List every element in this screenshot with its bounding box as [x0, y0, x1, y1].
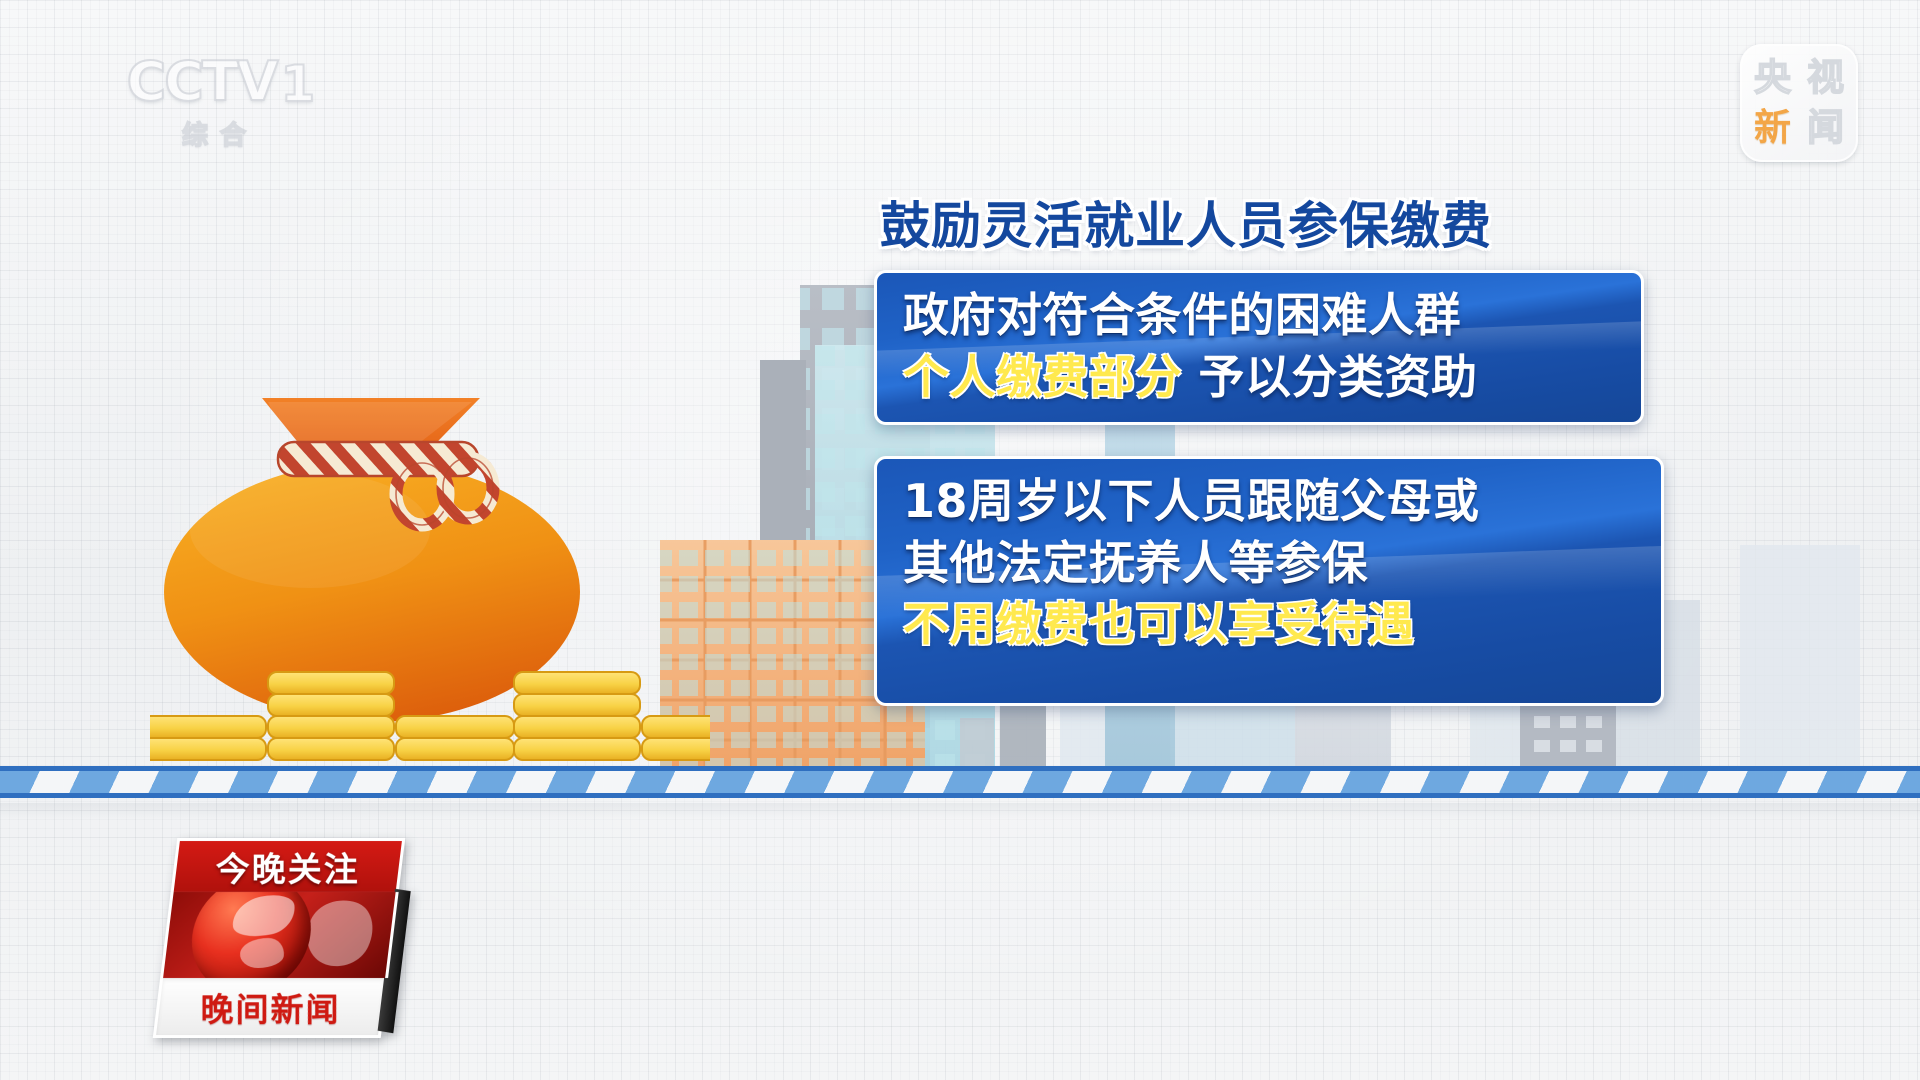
money-bag-illustration — [150, 380, 710, 780]
panel2-line-3: 不用缴费也可以享受待遇 — [903, 594, 1635, 656]
program-bug-globe-area — [160, 892, 399, 978]
corner-logo-row-top: 央 视 — [1748, 54, 1851, 102]
program-bug-top: 今晚关注 — [171, 838, 406, 892]
corner-logo-char-3: 新 — [1748, 104, 1798, 152]
panel1-line-2-highlight: 个人缴费部分 — [903, 350, 1182, 404]
program-bug-bottom-label: 晚间新闻 — [201, 983, 341, 1031]
page-title: 鼓励灵活就业人员参保缴费 — [880, 186, 1492, 258]
corner-logo-char-4: 闻 — [1801, 104, 1851, 152]
panel1-line-2-rest: 予以分类资助 — [1182, 350, 1478, 404]
cctv-wordmark: CCTV — [127, 55, 277, 109]
program-bug-top-label: 今晚关注 — [216, 842, 360, 891]
panel1-line-2: 个人缴费部分 予以分类资助 — [903, 347, 1615, 409]
broadcast-graphic-stage: CCTV 1 综合 央 视 新 闻 鼓励灵活就业人员参保缴费 政府对符合条件的困… — [0, 0, 1920, 1080]
program-bug: 今晚关注 晚间新闻 — [153, 838, 406, 1038]
corner-logo-char-2: 视 — [1801, 54, 1851, 102]
info-panel-1: 政府对符合条件的困难人群 个人缴费部分 予以分类资助 — [874, 270, 1644, 425]
panel1-line-1: 政府对符合条件的困难人群 — [903, 285, 1615, 347]
panel2-line-2: 其他法定抚养人等参保 — [903, 533, 1635, 595]
program-bug-bottom: 晚间新闻 — [153, 978, 388, 1038]
cctv-news-corner-logo: 央 视 新 闻 — [1740, 44, 1858, 162]
cctv-subtitle: 综合 — [110, 115, 330, 152]
cctv1-channel-logo: CCTV 1 综合 — [110, 55, 330, 165]
globe-icon — [185, 892, 317, 978]
corner-logo-char-1: 央 — [1748, 54, 1798, 102]
panel2-line-1: 18周岁以下人员跟随父母或 — [903, 471, 1635, 533]
cctv-channel-number: 1 — [281, 59, 314, 109]
corner-logo-row-bottom: 新 闻 — [1748, 104, 1851, 152]
info-panel-2: 18周岁以下人员跟随父母或 其他法定抚养人等参保 不用缴费也可以享受待遇 — [874, 456, 1664, 706]
ground-shadow — [0, 803, 1920, 819]
ground-stripe-band — [0, 766, 1920, 798]
